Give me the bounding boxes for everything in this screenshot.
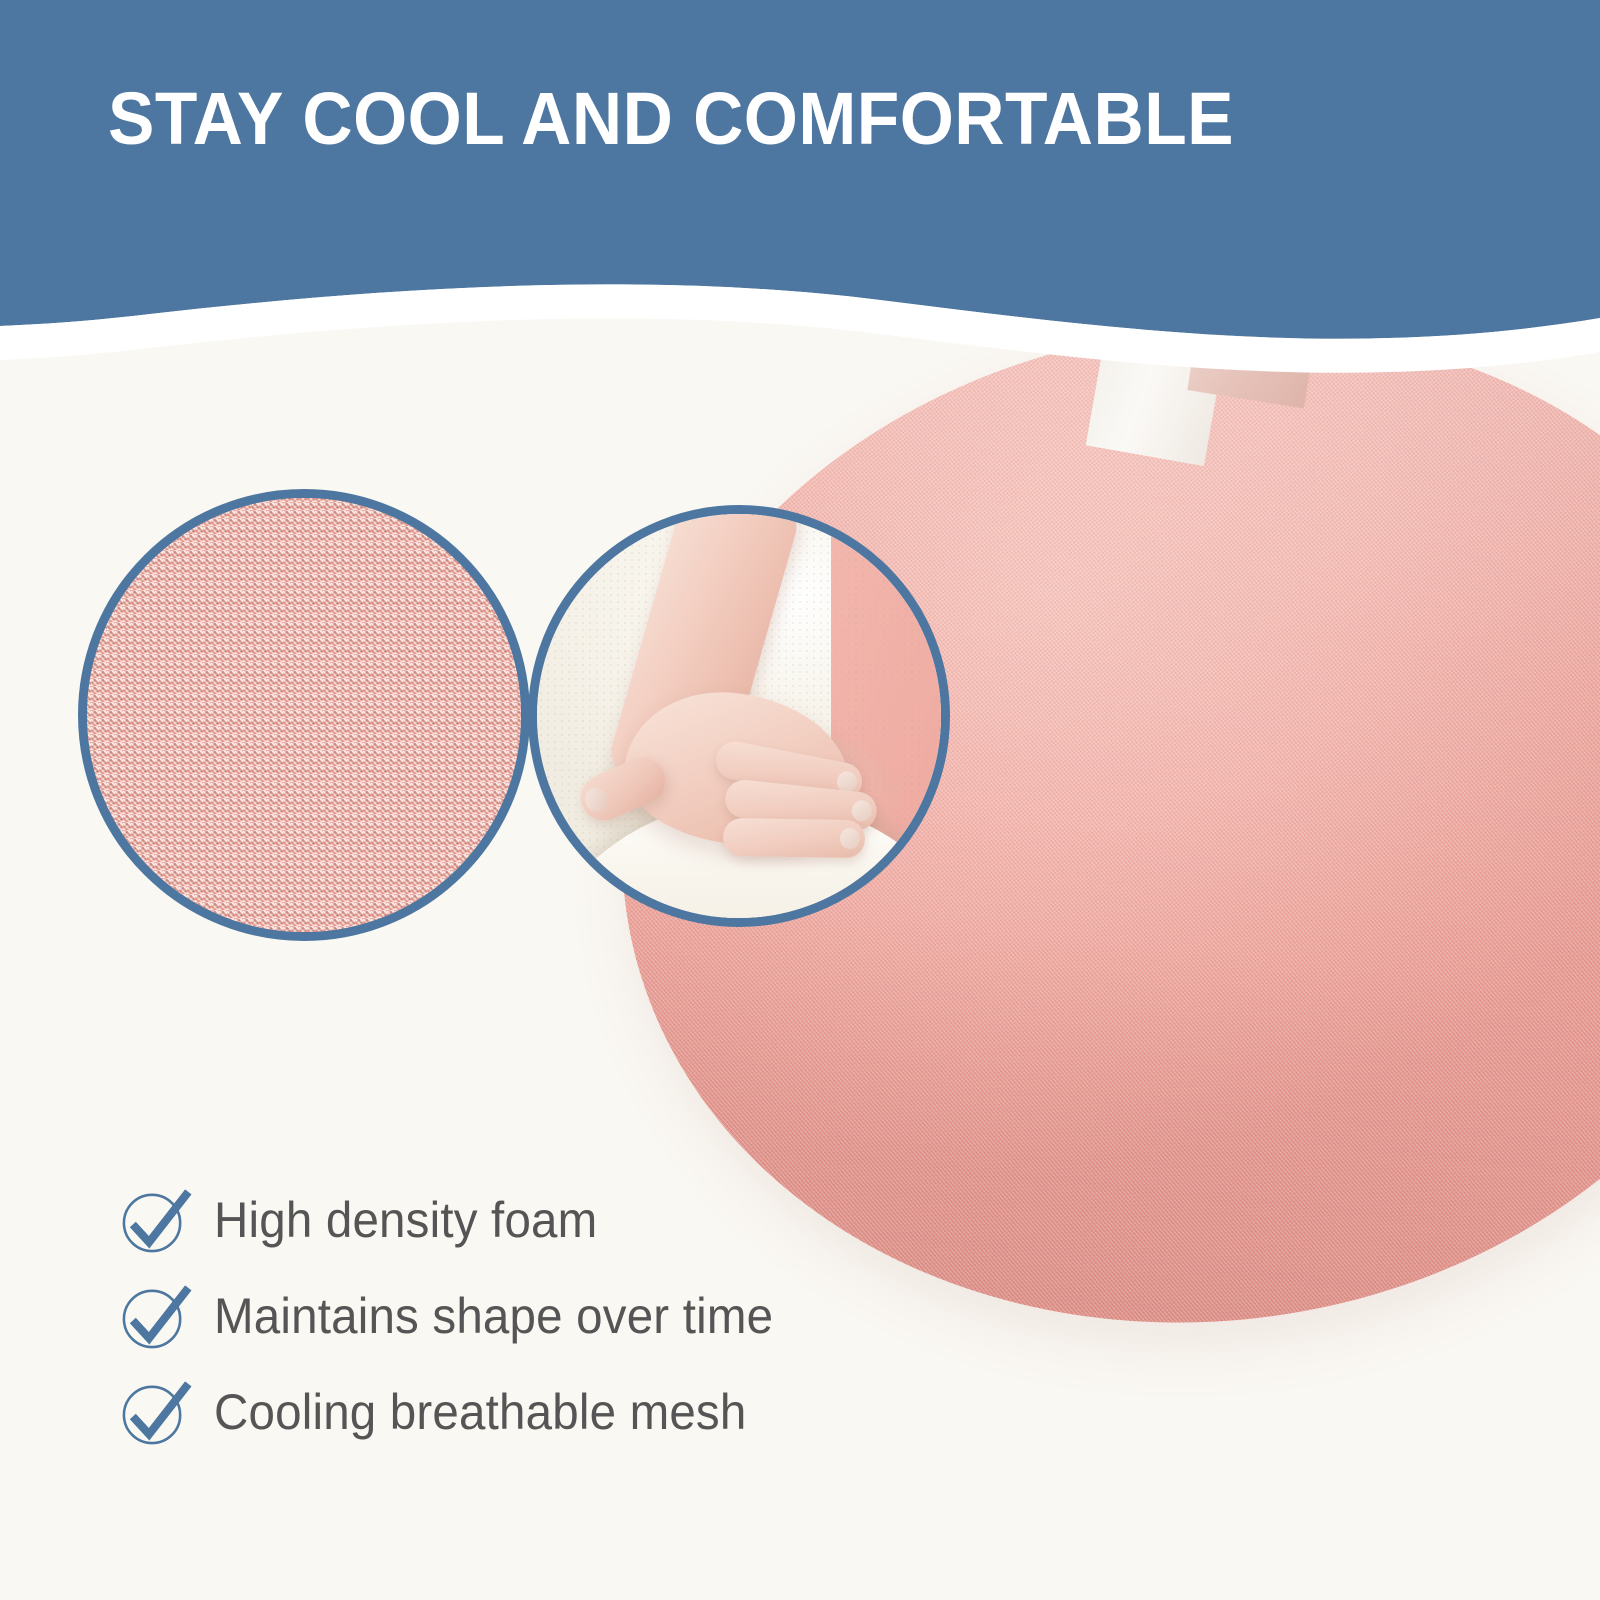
check-circle-icon (118, 1183, 192, 1257)
page-title: STAY COOL AND COMFORTABLE (108, 82, 1234, 156)
list-item: Maintains shape over time (118, 1268, 803, 1364)
mesh-fabric-closeup-icon (78, 489, 530, 941)
list-item: High density foam (118, 1172, 803, 1268)
fingernail-icon (581, 784, 611, 815)
callout-mesh-fabric (78, 489, 530, 941)
feature-list: High density foam Maintains shape over t… (118, 1172, 803, 1460)
fingernail-icon (840, 828, 860, 849)
header-wave-shape (0, 0, 1600, 339)
callout-hand-pressing-foam (528, 505, 950, 927)
check-circle-icon (118, 1279, 192, 1353)
list-item: Cooling breathable mesh (118, 1364, 803, 1460)
feature-label: High density foam (214, 1191, 597, 1249)
header-band: STAY COOL AND COMFORTABLE (0, 0, 1600, 380)
feature-label: Cooling breathable mesh (214, 1383, 746, 1441)
feature-label: Maintains shape over time (214, 1287, 773, 1345)
check-circle-icon (118, 1375, 192, 1449)
fingernail-icon (851, 799, 873, 822)
finger-icon (723, 818, 866, 858)
product-infographic: STAY COOL AND COMFORTABLE High density f… (0, 0, 1600, 1600)
